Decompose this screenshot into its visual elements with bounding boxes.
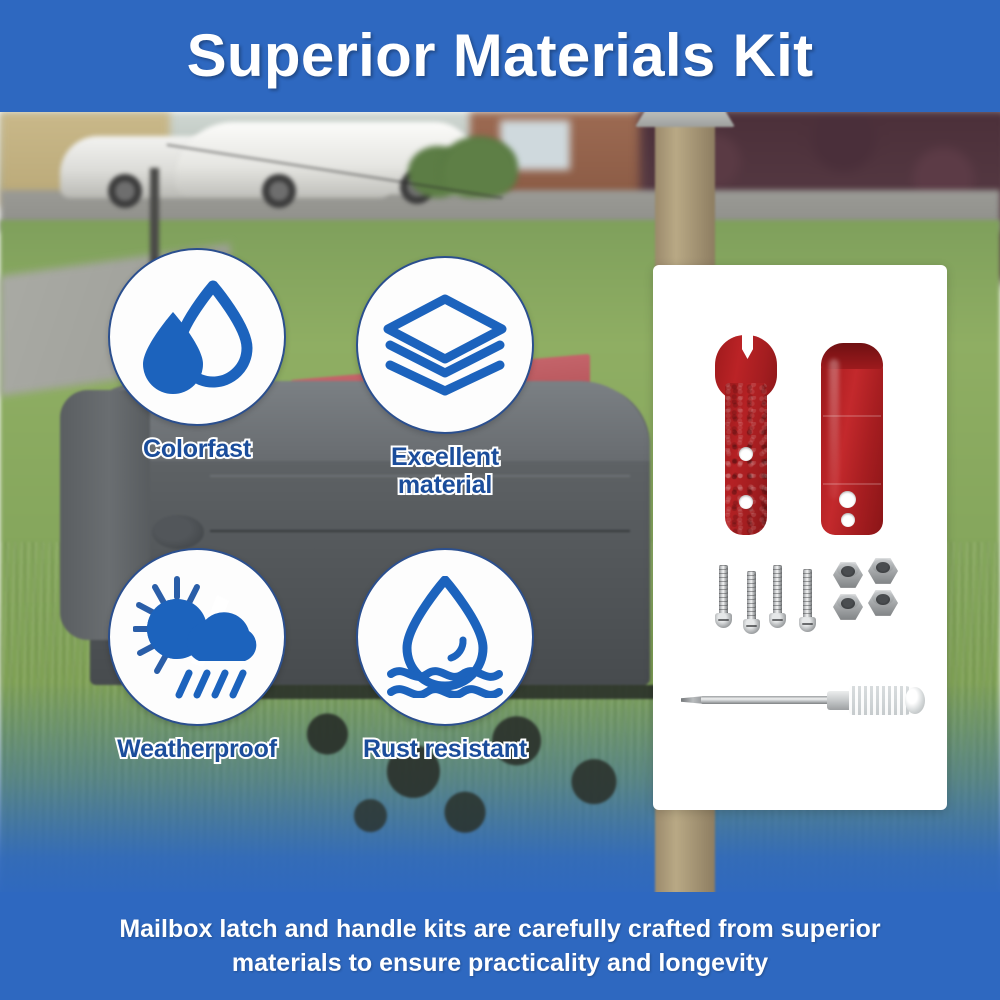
feature-list: Colorfast Excellent material [88, 248, 568, 808]
lock-nut-4 [868, 589, 898, 617]
car-wheel-rear [108, 174, 142, 208]
feature-label: Colorfast [88, 435, 306, 463]
handle-seam-upper [823, 415, 881, 417]
lock-nut-1 [833, 561, 863, 589]
header-band: Superior Materials Kit [0, 0, 1000, 112]
water-droplets-icon [137, 278, 257, 396]
feature-label: Rust resistant [336, 735, 554, 763]
feature-weatherproof: Weatherproof [88, 548, 306, 763]
latch-hole-upper [739, 447, 753, 461]
feature-icon-circle [108, 248, 286, 426]
handle-plate-part [821, 343, 883, 535]
screw-2 [745, 571, 758, 635]
sun-cloud-rain-icon [133, 575, 261, 699]
screwdriver-handle-cap [905, 687, 925, 714]
droplet-waves-icon [383, 576, 507, 698]
handle-seam-lower [823, 483, 881, 485]
feature-label-line2: material [398, 471, 492, 499]
handle-highlight [829, 359, 839, 499]
screwdriver-part [681, 683, 919, 717]
footer-description: Mailbox latch and handle kits are carefu… [50, 912, 950, 981]
latch-plate-part [715, 335, 777, 535]
screw-4 [801, 569, 814, 633]
layers-stack-icon [382, 293, 508, 397]
feature-icon-circle [356, 548, 534, 726]
feature-label: Weatherproof [88, 735, 306, 763]
page-title: Superior Materials Kit [187, 26, 814, 86]
screw-1 [717, 565, 730, 629]
lock-nut-3 [833, 593, 863, 621]
latch-hole-lower [739, 495, 753, 509]
feature-rust-resistant: Rust resistant [336, 548, 554, 763]
feature-icon-circle [108, 548, 286, 726]
footer-line-2: materials to ensure practicality and lon… [232, 949, 768, 977]
product-infographic: Superior Materials Kit Colorfast [0, 0, 1000, 1000]
feature-excellent-material: Excellent material [336, 256, 554, 499]
lock-nut-2 [868, 557, 898, 585]
footer-line-1: Mailbox latch and handle kits are carefu… [119, 915, 880, 943]
screw-3 [771, 565, 784, 629]
handle-hole-upper [839, 491, 856, 508]
handle-hole-lower [841, 513, 855, 527]
feature-label-line1: Excellent [391, 443, 499, 471]
footer-band: Mailbox latch and handle kits are carefu… [0, 892, 1000, 1000]
screwdriver-shaft [701, 696, 831, 704]
product-photo-panel [653, 265, 947, 810]
feature-label: Excellent material [336, 443, 554, 499]
feature-icon-circle [356, 256, 534, 434]
feature-colorfast: Colorfast [88, 248, 306, 463]
